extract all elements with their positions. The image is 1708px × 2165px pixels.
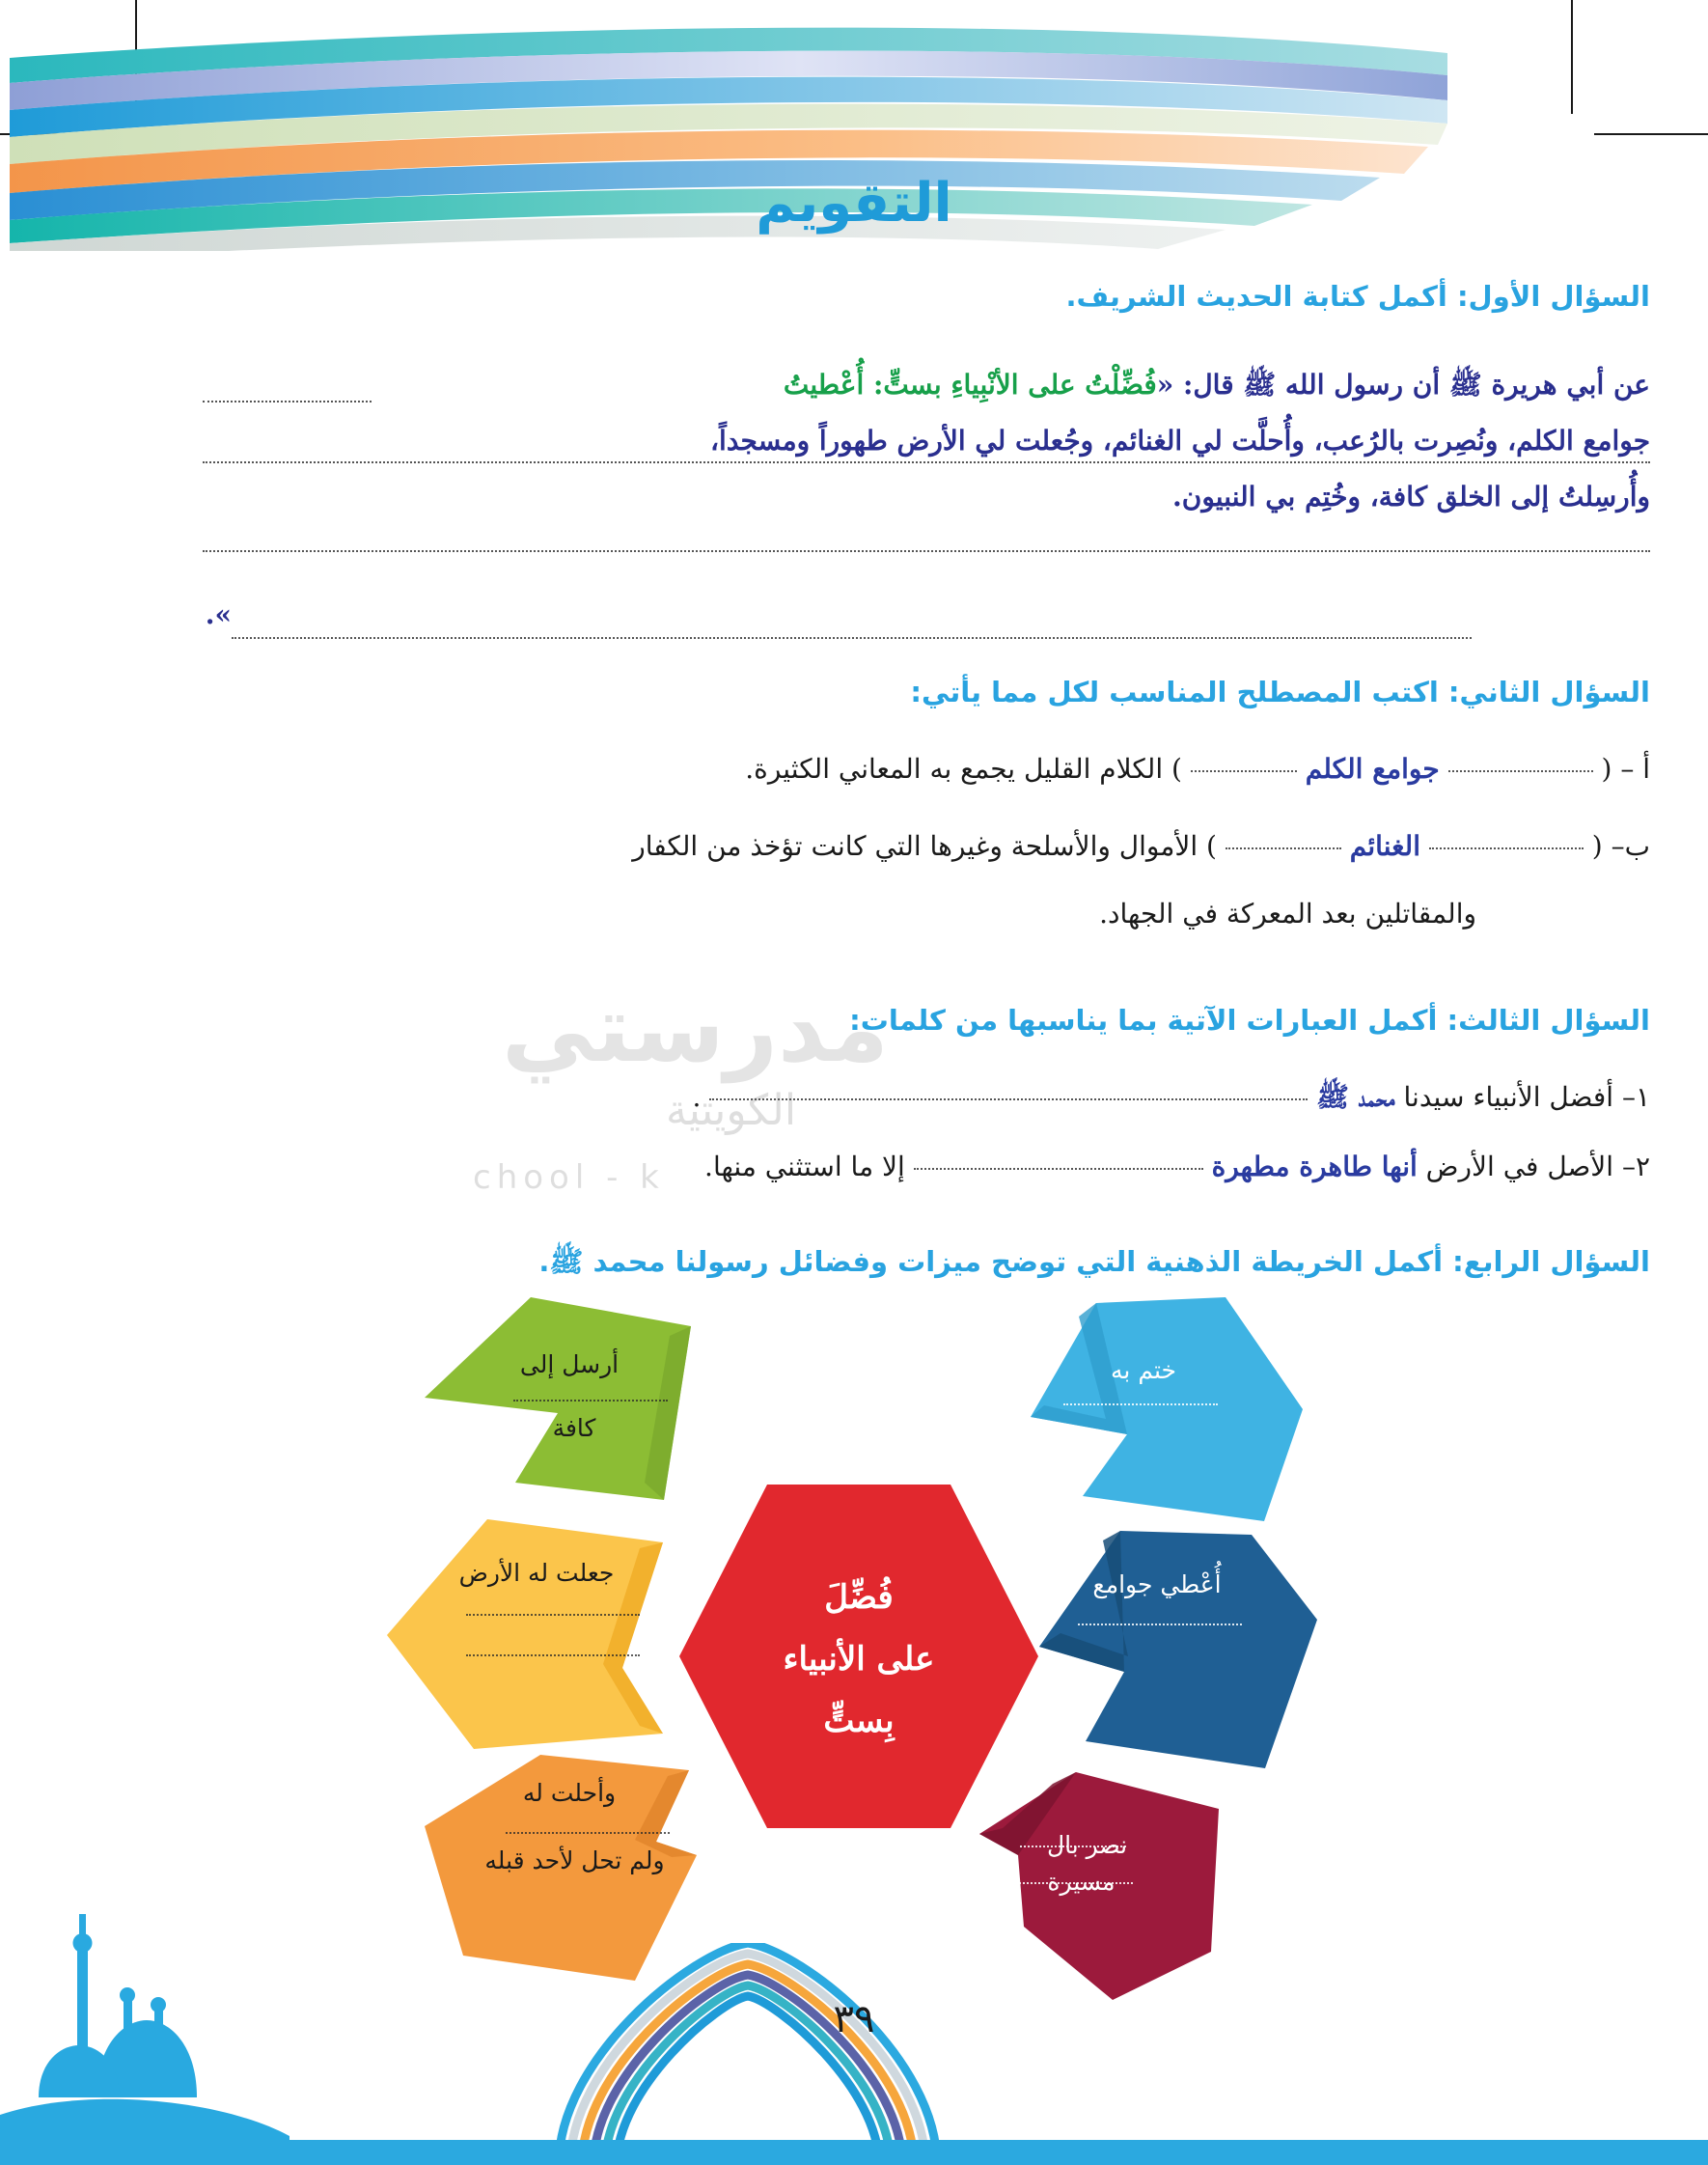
- item-1-blank[interactable]: [709, 1098, 1308, 1100]
- item-a-paren-open: (: [1601, 753, 1612, 785]
- page-title: التقويم: [756, 172, 951, 235]
- mindmap-ghanaim-label: وأحلت له: [463, 1776, 675, 1811]
- item-1-answer: محمد ﷺ: [1316, 1081, 1394, 1113]
- mindmap-ursila-label2: كافة: [473, 1411, 675, 1446]
- mindmap-jawami-blank[interactable]: [1078, 1624, 1242, 1625]
- mindmap-center-line3: بِستٍّ: [675, 1695, 1042, 1747]
- mindmap-node-khutima[interactable]: ختم به: [1023, 1293, 1312, 1535]
- question-2-item-b-cont: والمقاتلين بعد المعركة في الجهاد.: [1099, 898, 1476, 930]
- mindmap-ghanaim-label2: ولم تحل لأحد قبله: [466, 1844, 683, 1878]
- item-1-marker: ١–: [1622, 1081, 1650, 1113]
- mindmap-ard-blank-2[interactable]: [466, 1654, 640, 1656]
- worksheet-page: التقويم مدرستي الكويتية chool - k السؤال…: [0, 0, 1708, 2165]
- mindmap-nusira-blank-2[interactable]: [1012, 1882, 1133, 1884]
- question-2-item-b: ب– ( الغنائم ) الأموال والأسلحة وغيرها ا…: [632, 830, 1650, 862]
- answer-line-1b[interactable]: [203, 461, 1650, 463]
- item-2-blank[interactable]: [914, 1168, 1203, 1170]
- question-3-heading: السؤال الثالث: أكمل العبارات الآتية بما …: [849, 1004, 1650, 1037]
- question-3-item-2: ٢– الأصل في الأرض أنها طاهرة مطهرة إلا م…: [704, 1151, 1650, 1182]
- hadith-green-part: فُضِّلْتُ على الأنْبِياءِ بستٍّ: [883, 369, 1156, 401]
- item-b-answer: الغنائم: [1350, 830, 1420, 862]
- mindmap-center-line1: فُضِّلَ: [675, 1571, 1042, 1624]
- item-2-before: الأصل في الأرض: [1426, 1151, 1613, 1182]
- question-3-item-1: ١– أفضل الأنبياء سيدنا محمد ﷺ .: [692, 1081, 1650, 1120]
- item-a-answer: جوامع الكلم: [1306, 753, 1440, 785]
- item-b-marker: ب–: [1612, 830, 1650, 862]
- question-2-heading: السؤال الثاني: اكتب المصطلح المناسب لكل …: [910, 676, 1650, 708]
- mindmap-jawami-label: أُعْطي جوامع: [1041, 1568, 1273, 1602]
- mindmap-ursila-blank[interactable]: [513, 1400, 668, 1402]
- item-b-blank2[interactable]: [1226, 847, 1341, 849]
- question-1-hadith-line-3: وأُرسِلتُ إلى الخلق كافة، وخُتِم بي النب…: [1172, 481, 1650, 513]
- question-2-item-a: أ – ( جوامع الكلم ) الكلام القليل يجمع ب…: [745, 753, 1650, 785]
- mindmap-khutima-blank[interactable]: [1063, 1403, 1218, 1405]
- footer-arch-decoration: [545, 1943, 950, 2165]
- answer-line-1a[interactable]: [203, 401, 372, 402]
- hadith-colon: : أُعْطيتُ: [784, 369, 883, 401]
- bottom-color-bar: [0, 2140, 1708, 2165]
- watermark-line3: chool - k: [473, 1158, 665, 1197]
- item-a-marker: أ –: [1620, 753, 1650, 785]
- item-2-after: إلا ما استثني منها.: [704, 1151, 905, 1182]
- item-1-before: أفضل الأنبياء سيدنا: [1404, 1081, 1614, 1113]
- mindmap-node-ard[interactable]: جعلت له الأرض: [381, 1513, 671, 1755]
- item-a-blank[interactable]: [1448, 770, 1593, 772]
- mindmap-center-line2: على الأنبياء: [675, 1633, 1042, 1685]
- item-b-paren-open: (: [1592, 830, 1603, 862]
- answer-line-1d[interactable]: [232, 637, 1472, 639]
- item-2-marker: ٢–: [1622, 1151, 1650, 1182]
- answer-line-1c[interactable]: [203, 550, 1650, 552]
- mosque-silhouette-decoration: [0, 1856, 405, 2165]
- question-1-closing: ».: [206, 598, 232, 630]
- mindmap-ard-label: جعلت له الأرض: [426, 1556, 647, 1591]
- mindmap-node-ursila[interactable]: أرسل إلى كافة: [415, 1293, 695, 1515]
- item-b-text: ) الأموال والأسلحة وغيرها التي كانت تؤخذ…: [632, 830, 1217, 862]
- mindmap-ursila-label: أرسل إلى: [463, 1347, 675, 1382]
- crop-mark-right-top: [1594, 133, 1708, 135]
- mindmap-ard-blank-1[interactable]: [466, 1614, 640, 1616]
- hadith-intro: عن أبي هريرة ﷺ أن رسول الله ﷺ قال: «: [1157, 369, 1650, 401]
- question-4-heading: السؤال الرابع: أكمل الخريطة الذهنية التي…: [538, 1245, 1650, 1286]
- question-1-hadith-line-1: عن أبي هريرة ﷺ أن رسول الله ﷺ قال: «فُضِ…: [222, 369, 1650, 407]
- item-2-answer: أنها طاهرة مطهرة: [1212, 1151, 1418, 1182]
- mindmap-nusira-blank-1[interactable]: [1020, 1846, 1126, 1847]
- item-a-blank2[interactable]: [1191, 770, 1297, 772]
- page-title-wrap: التقويم: [0, 172, 1708, 235]
- item-1-after: .: [692, 1081, 701, 1113]
- question-1-heading: السؤال الأول: أكمل كتابة الحديث الشريف.: [1065, 280, 1650, 313]
- item-b-blank[interactable]: [1429, 847, 1584, 849]
- watermark-line1: مدرستي: [502, 975, 889, 1083]
- mindmap-ghanaim-blank[interactable]: [506, 1832, 670, 1834]
- crop-mark-top-right: [1571, 0, 1573, 114]
- mindmap-khutima-label: ختم به: [1033, 1353, 1254, 1388]
- mindmap-node-nusira[interactable]: نصر بال مسيرة: [970, 1764, 1269, 2015]
- question-1-hadith-line-2: جوامع الكلم، ونُصِرت بالرُعب، وأُحلَّت ل…: [710, 425, 1650, 457]
- item-a-text: ) الكلام القليل يجمع به المعاني الكثيرة.: [745, 753, 1182, 785]
- mindmap-node-jawami[interactable]: أُعْطي جوامع: [1028, 1527, 1327, 1778]
